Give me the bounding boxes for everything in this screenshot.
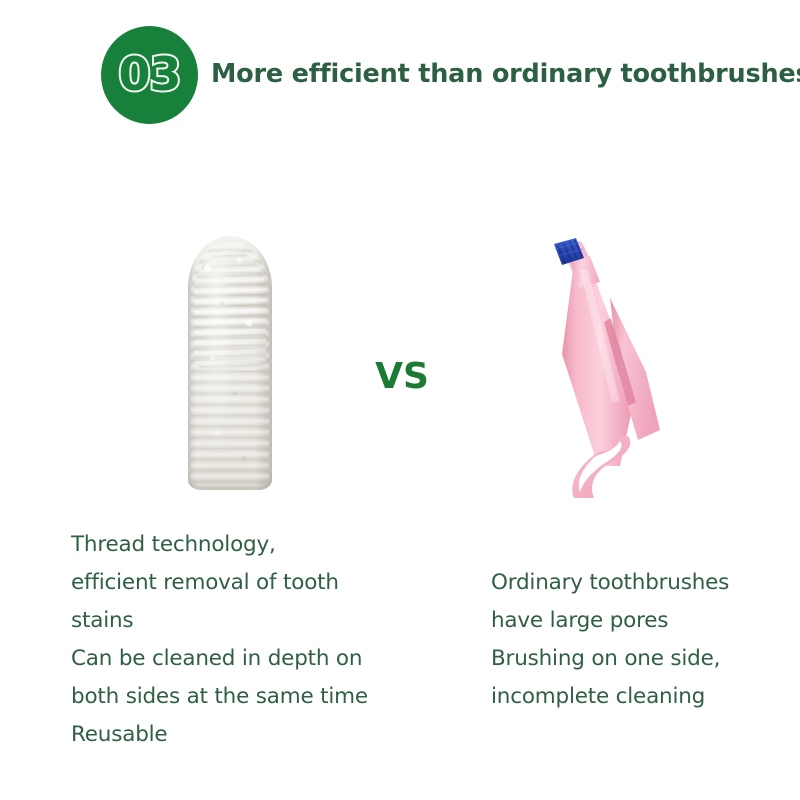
caption-line: Brushing on one side, — [491, 640, 729, 678]
ordinary-toothbrush-image — [470, 230, 720, 500]
product-comparison-page: 03 More efficient than ordinary toothbru… — [0, 0, 800, 800]
caption-line: Ordinary toothbrushes — [491, 564, 729, 602]
step-number-label: 03 — [118, 51, 180, 97]
left-product-caption: Thread technology, efficient removal of … — [71, 526, 368, 754]
caption-line: both sides at the same time — [71, 678, 368, 716]
product-comparison-stage: VS — [0, 150, 800, 520]
thread-finger-toothbrush-image — [188, 236, 272, 490]
versus-label: VS — [370, 356, 434, 397]
caption-line: Can be cleaned in depth on — [71, 640, 368, 678]
step-number-badge: 03 — [101, 26, 198, 124]
section-header: 03 More efficient than ordinary toothbru… — [0, 0, 800, 150]
caption-line: Reusable — [71, 716, 368, 754]
toothbrush-svg — [470, 230, 720, 500]
caption-line: stains — [71, 602, 368, 640]
sponge-texture-speckle — [190, 238, 270, 488]
caption-line: Thread technology, — [71, 526, 368, 564]
caption-line: efficient removal of tooth — [71, 564, 368, 602]
caption-line: incomplete cleaning — [491, 678, 729, 716]
page-title: More efficient than ordinary toothbrushe… — [211, 59, 800, 89]
caption-line: have large pores — [491, 602, 729, 640]
right-product-caption: Ordinary toothbrushes have large pores B… — [491, 564, 729, 716]
